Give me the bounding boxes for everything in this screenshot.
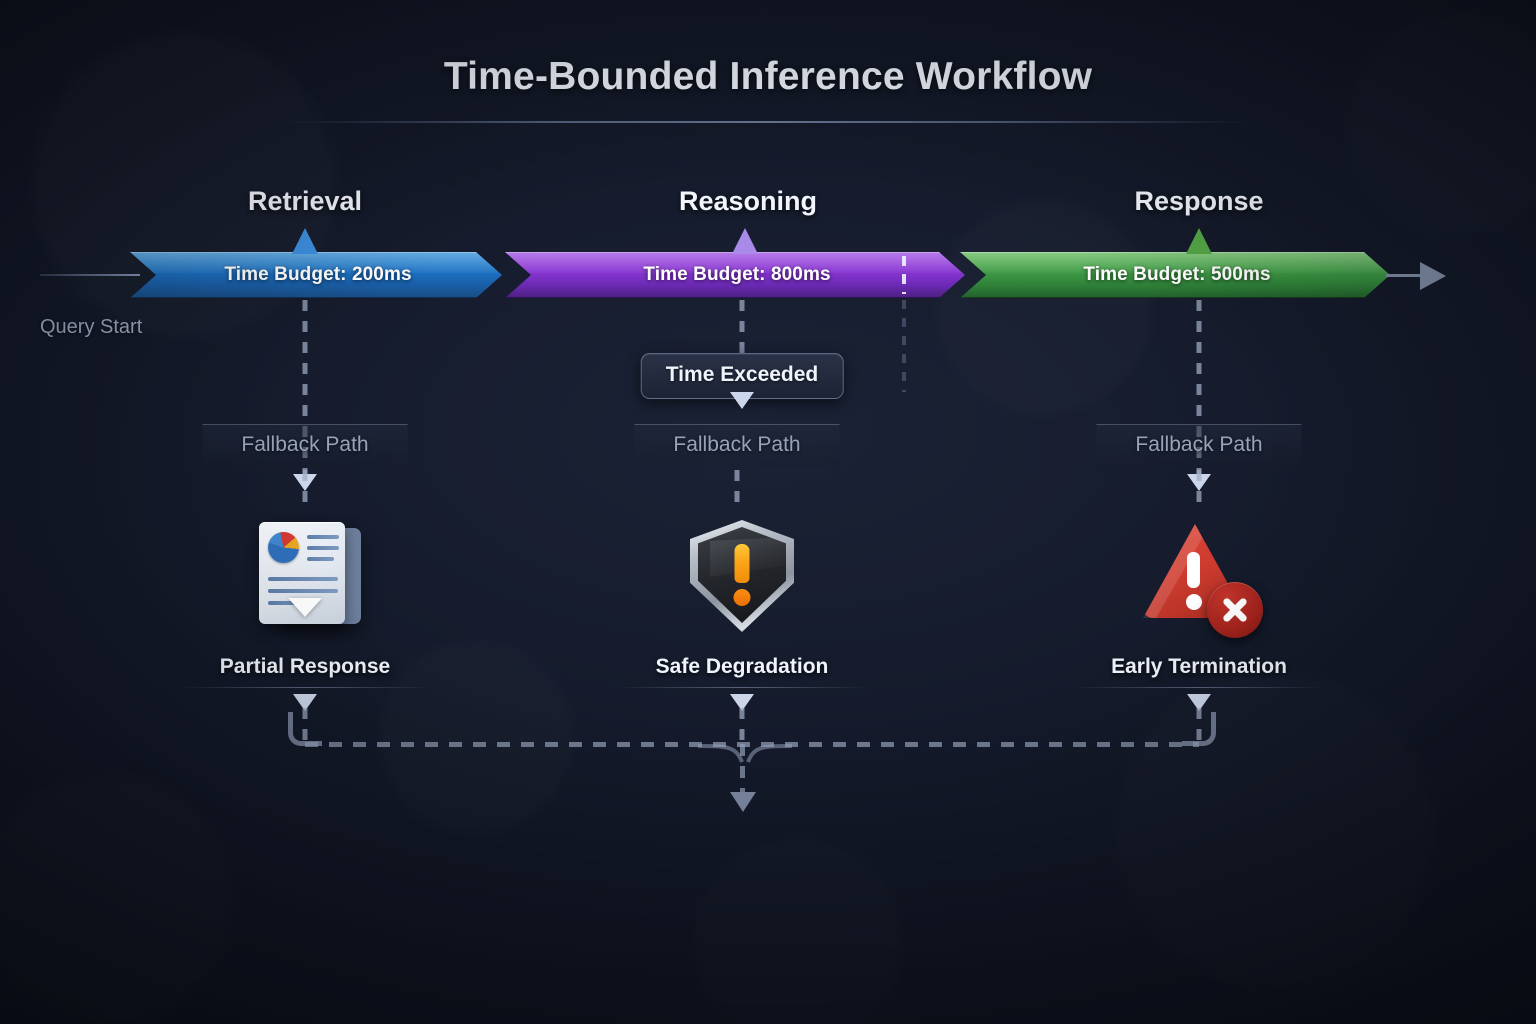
stage-marker-response-icon bbox=[1186, 228, 1212, 254]
doc-text-line bbox=[307, 535, 339, 539]
merge-elbow-left bbox=[288, 712, 322, 746]
outcome-divider bbox=[179, 687, 431, 688]
stage-marker-retrieval-icon bbox=[292, 228, 318, 254]
merge-elbow-right bbox=[1182, 712, 1216, 746]
outcome-label-safe-degradation: Safe Degradation bbox=[656, 655, 829, 688]
stage-budget-response: Time Budget: 500ms bbox=[1079, 264, 1270, 286]
pie-chart-icon bbox=[268, 532, 299, 563]
badge-arrowhead-icon bbox=[730, 392, 754, 409]
download-triangle-icon bbox=[288, 598, 322, 617]
timeout-marker-tail bbox=[902, 300, 906, 392]
warning-error-icon bbox=[1139, 518, 1259, 636]
fallback-path-retrieval: Fallback Path bbox=[203, 424, 408, 467]
stage-budget-reasoning: Time Budget: 800ms bbox=[639, 264, 830, 286]
stage-bar-retrieval[interactable]: Time Budget: 200ms bbox=[130, 252, 502, 298]
stage-budget-retrieval: Time Budget: 200ms bbox=[220, 264, 411, 286]
stage-marker-reasoning-icon bbox=[732, 228, 758, 254]
connector-fallback-to-outcome-response bbox=[1197, 470, 1202, 510]
connector-fallback-to-outcome-reasoning bbox=[735, 470, 740, 510]
timeline-exit-arrow-icon bbox=[1420, 262, 1446, 290]
outcome-label-partial-response: Partial Response bbox=[220, 655, 390, 688]
shield-warning-icon bbox=[682, 518, 802, 636]
shield-shape bbox=[690, 520, 794, 632]
exclamation-dot-icon bbox=[734, 589, 751, 606]
merge-curve-join bbox=[690, 700, 800, 770]
document-report-icon bbox=[245, 518, 365, 636]
stage-bar-response[interactable]: Time Budget: 500ms bbox=[960, 252, 1390, 298]
outcome-label-early-termination: Early Termination bbox=[1111, 655, 1287, 688]
timeout-marker bbox=[902, 256, 906, 294]
doc-text-line bbox=[268, 577, 338, 581]
merge-output-arrowhead-icon bbox=[730, 792, 756, 812]
outcome-divider bbox=[616, 687, 868, 688]
exclamation-dot-icon bbox=[1186, 594, 1202, 610]
fallback-path-reasoning: Fallback Path bbox=[635, 424, 840, 467]
close-x-badge-icon bbox=[1207, 582, 1263, 638]
timeline-entry-line bbox=[40, 274, 140, 276]
exclamation-bar-icon bbox=[735, 544, 750, 583]
merge-output-line bbox=[740, 744, 745, 798]
doc-text-line bbox=[268, 589, 338, 593]
outcome-divider bbox=[1073, 687, 1325, 688]
timeline: Query Start Time Budget: 200ms Time Budg… bbox=[0, 0, 1536, 1024]
doc-text-line bbox=[307, 546, 339, 550]
doc-text-line bbox=[307, 557, 334, 561]
fallback-path-response: Fallback Path bbox=[1097, 424, 1302, 467]
stage-bar-reasoning[interactable]: Time Budget: 800ms bbox=[505, 252, 965, 298]
exclamation-bar-icon bbox=[1187, 552, 1200, 588]
query-start-label: Query Start bbox=[40, 316, 142, 339]
connector-reasoning-to-badge bbox=[740, 300, 745, 356]
connector-fallback-to-outcome-retrieval bbox=[303, 470, 308, 510]
